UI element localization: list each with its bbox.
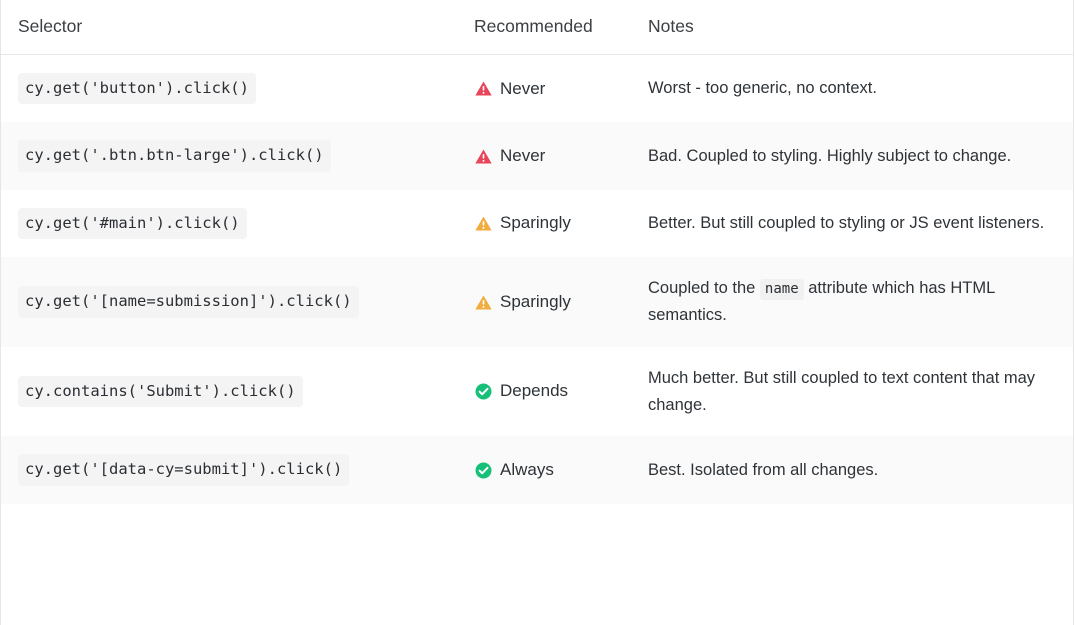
recommendation-label: Depends — [500, 381, 568, 401]
selector-code-chip: cy.contains('Submit').click() — [18, 376, 303, 407]
notes-text: Better. But still coupled to styling or … — [648, 210, 1049, 237]
notes-text: Bad. Coupled to styling. Highly subject … — [648, 143, 1049, 170]
warning-triangle-amber-icon — [474, 214, 493, 233]
table-row: cy.contains('Submit').click()DependsMuch… — [1, 347, 1073, 436]
selector-code-chip: cy.get('.btn.btn-large').click() — [18, 140, 331, 171]
selector-best-practices-table: Selector Recommended Notes cy.get('butto… — [1, 0, 1073, 504]
cell-selector: cy.get('[data-cy=submit]').click() — [1, 436, 461, 503]
notes-text-before: Coupled to the — [648, 279, 760, 297]
notes-text: Much better. But still coupled to text c… — [648, 365, 1049, 418]
cell-recommended: Depends — [461, 347, 637, 436]
cell-recommended: Never — [461, 122, 637, 189]
selector-code-chip: cy.get('[data-cy=submit]').click() — [18, 454, 349, 485]
notes-text-before: Much better. But still coupled to text c… — [648, 369, 1035, 414]
table-body: cy.get('button').click()NeverWorst - too… — [1, 55, 1073, 504]
recommendation-label: Never — [500, 146, 545, 166]
cell-recommended: Sparingly — [461, 190, 637, 257]
table-row: cy.get('#main').click()SparinglyBetter. … — [1, 190, 1073, 257]
cell-notes: Worst - too generic, no context. — [637, 55, 1073, 123]
recommendation-badge: Always — [474, 460, 631, 480]
notes-inline-code: name — [760, 279, 804, 300]
cell-selector: cy.contains('Submit').click() — [1, 347, 461, 436]
cell-notes: Much better. But still coupled to text c… — [637, 347, 1073, 436]
selector-code-chip: cy.get('#main').click() — [18, 208, 247, 239]
cell-recommended: Never — [461, 55, 637, 123]
table-row: cy.get('[data-cy=submit]').click()Always… — [1, 436, 1073, 503]
table-row: cy.get('button').click()NeverWorst - too… — [1, 55, 1073, 123]
recommendation-badge: Depends — [474, 381, 631, 401]
notes-text-before: Bad. Coupled to styling. Highly subject … — [648, 147, 1011, 165]
cell-recommended: Always — [461, 436, 637, 503]
recommendation-label: Sparingly — [500, 292, 571, 312]
recommendation-badge: Sparingly — [474, 292, 631, 312]
warning-triangle-red-icon — [474, 147, 493, 166]
table-row: cy.get('[name=submission]').click()Spari… — [1, 257, 1073, 346]
cell-notes: Better. But still coupled to styling or … — [637, 190, 1073, 257]
notes-text: Worst - too generic, no context. — [648, 75, 1049, 102]
cell-selector: cy.get('[name=submission]').click() — [1, 257, 461, 346]
cell-selector: cy.get('#main').click() — [1, 190, 461, 257]
table-header-row: Selector Recommended Notes — [1, 0, 1073, 55]
selector-code-chip: cy.get('[name=submission]').click() — [18, 286, 359, 317]
column-header-recommended: Recommended — [461, 0, 637, 55]
recommendation-label: Never — [500, 79, 545, 99]
recommendation-label: Always — [500, 460, 554, 480]
notes-text: Coupled to the name attribute which has … — [648, 275, 1049, 328]
recommendation-badge: Sparingly — [474, 213, 631, 233]
selector-code-chip: cy.get('button').click() — [18, 73, 256, 104]
check-circle-green-icon — [474, 461, 493, 480]
cell-notes: Best. Isolated from all changes. — [637, 436, 1073, 503]
warning-triangle-amber-icon — [474, 293, 493, 312]
recommendation-badge: Never — [474, 146, 631, 166]
selector-best-practices-table-container: Selector Recommended Notes cy.get('butto… — [0, 0, 1074, 625]
warning-triangle-red-icon — [474, 79, 493, 98]
cell-selector: cy.get('button').click() — [1, 55, 461, 123]
notes-text-before: Worst - too generic, no context. — [648, 79, 877, 97]
notes-text-before: Better. But still coupled to styling or … — [648, 214, 1044, 232]
recommendation-label: Sparingly — [500, 213, 571, 233]
notes-text-before: Best. Isolated from all changes. — [648, 461, 878, 479]
column-header-notes: Notes — [637, 0, 1073, 55]
cell-notes: Coupled to the name attribute which has … — [637, 257, 1073, 346]
table-header: Selector Recommended Notes — [1, 0, 1073, 55]
cell-notes: Bad. Coupled to styling. Highly subject … — [637, 122, 1073, 189]
check-circle-green-icon — [474, 382, 493, 401]
column-header-selector: Selector — [1, 0, 461, 55]
recommendation-badge: Never — [474, 79, 631, 99]
cell-recommended: Sparingly — [461, 257, 637, 346]
notes-text: Best. Isolated from all changes. — [648, 457, 1049, 484]
cell-selector: cy.get('.btn.btn-large').click() — [1, 122, 461, 189]
table-row: cy.get('.btn.btn-large').click()NeverBad… — [1, 122, 1073, 189]
